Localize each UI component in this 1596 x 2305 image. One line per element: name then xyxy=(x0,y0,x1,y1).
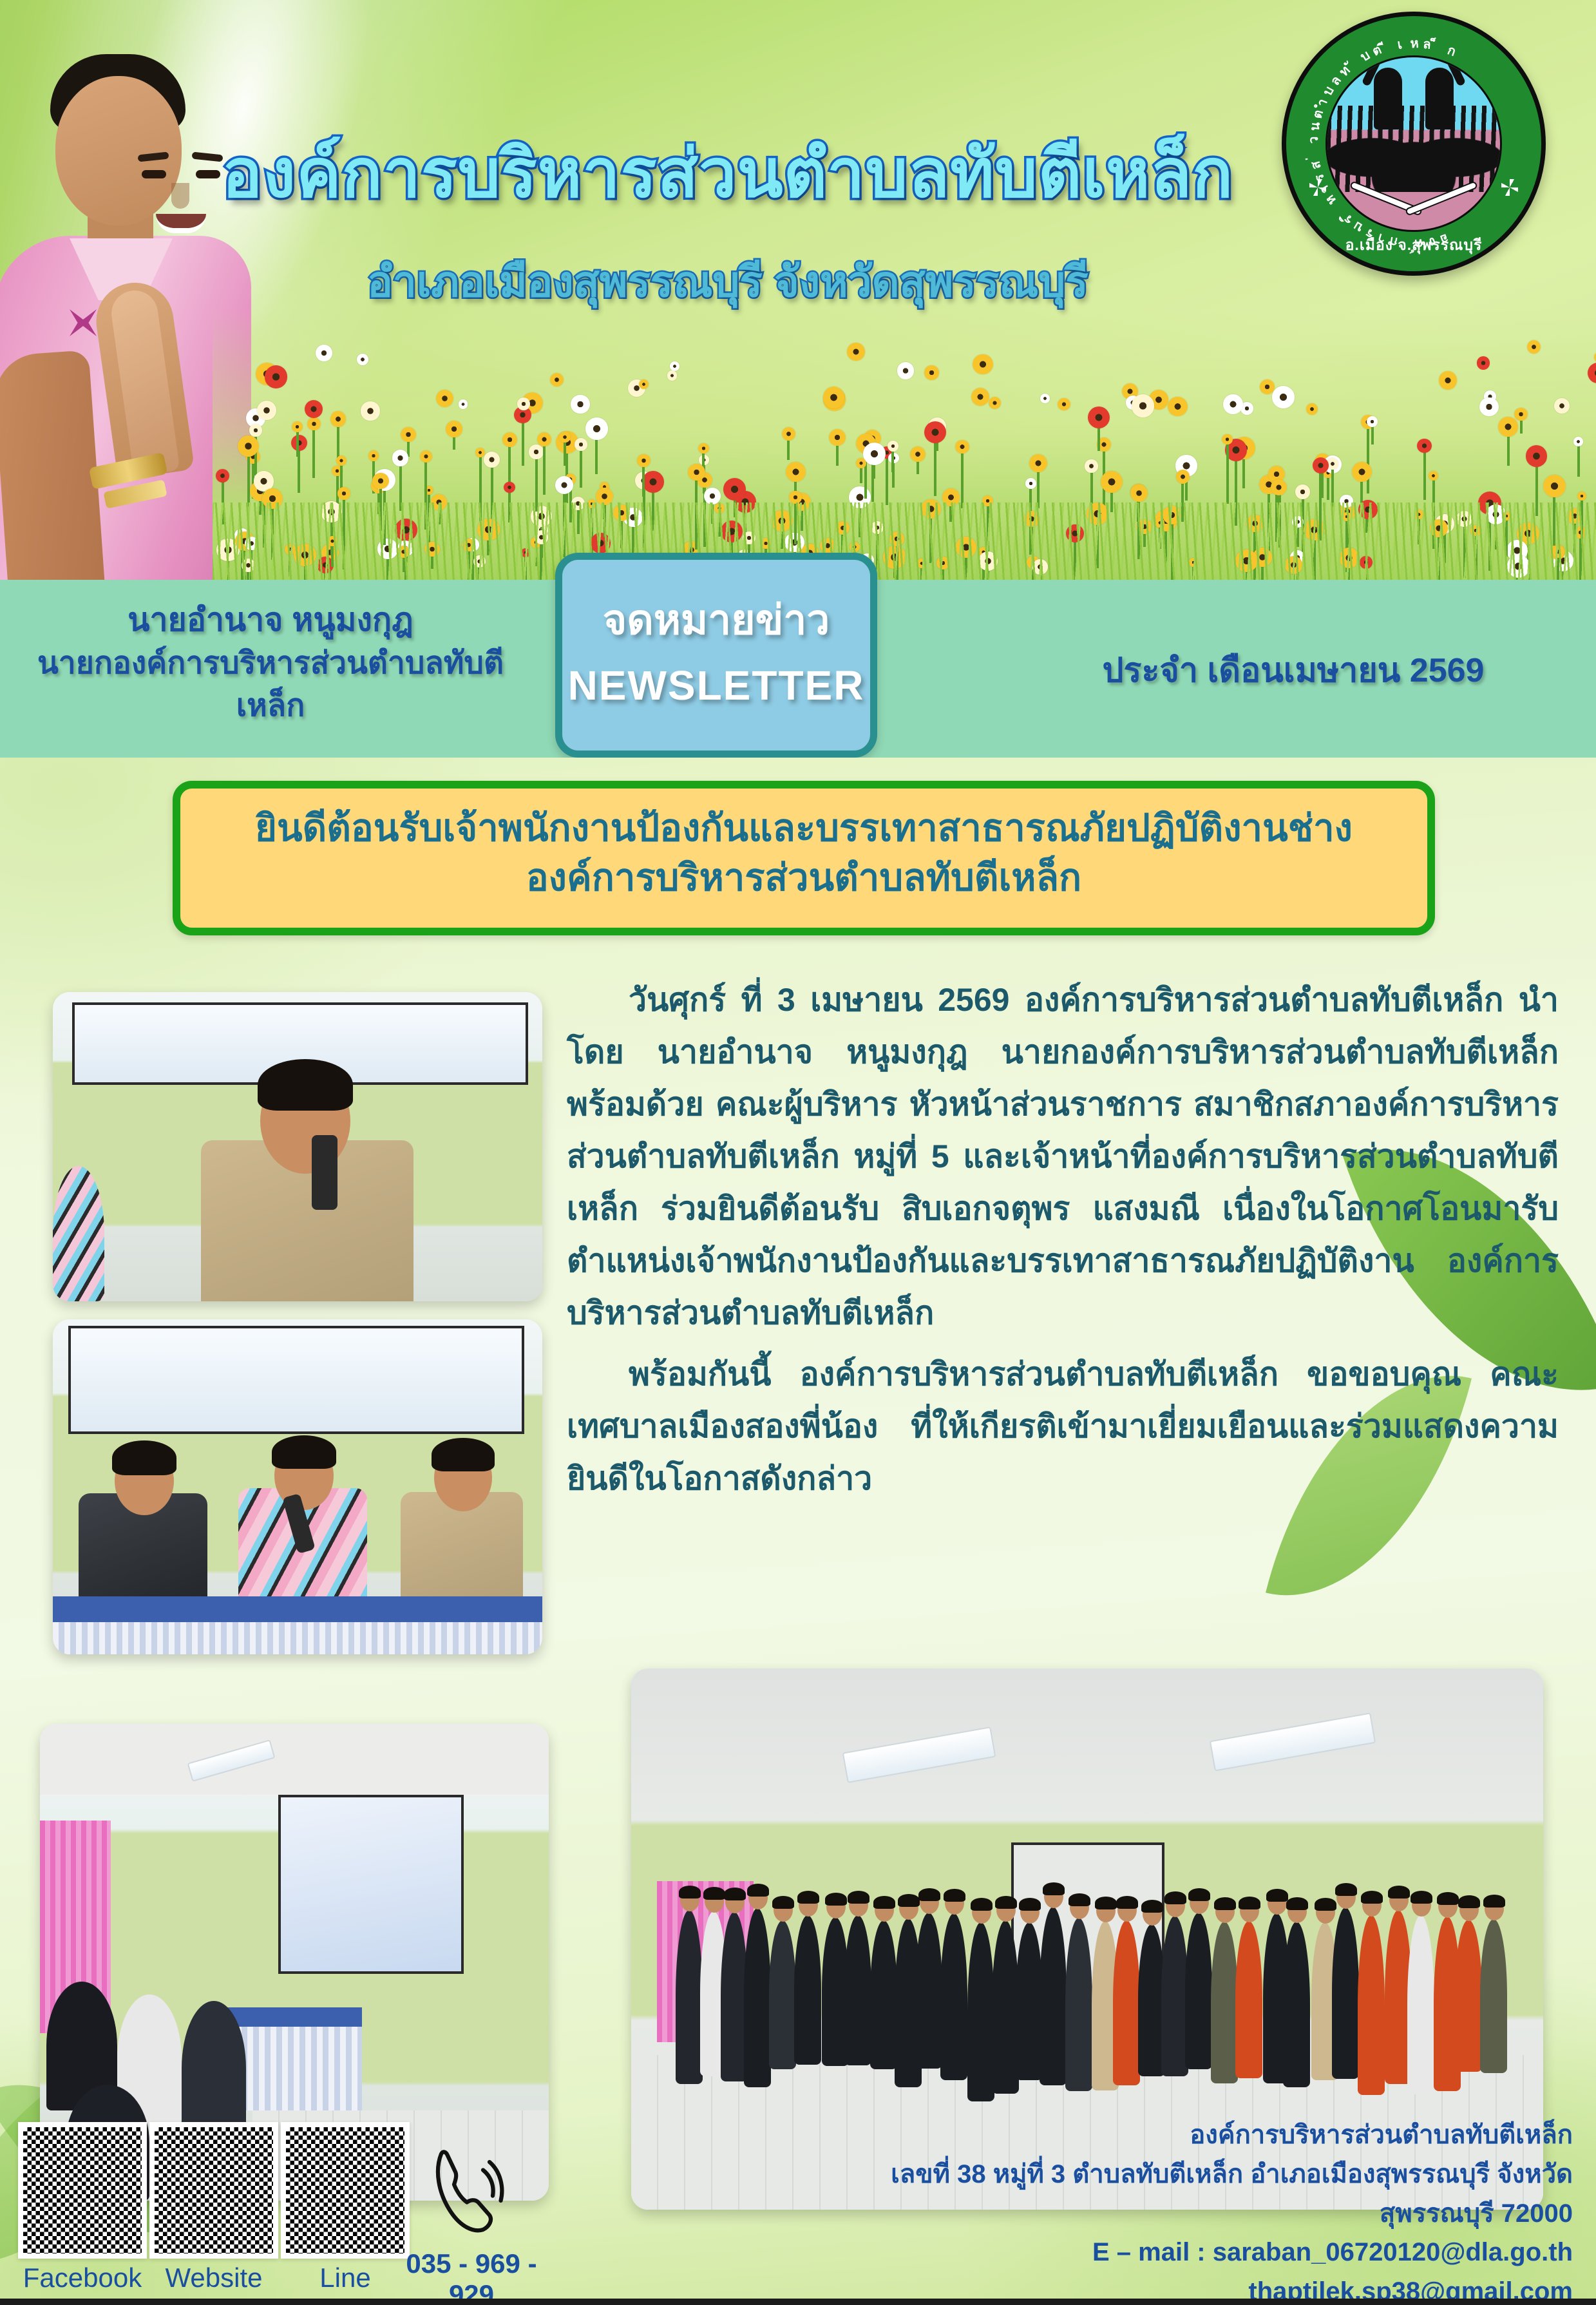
headline-line-2: องค์การบริหารส่วนตำบลทับตีเหล็ก xyxy=(180,855,1427,902)
photo3-ceiling xyxy=(40,1724,549,1795)
photo2-man-right-hair xyxy=(432,1438,495,1471)
mayor-position: นายกองค์การบริหารส่วนตำบลทับตีเหล็ก xyxy=(13,642,528,727)
newsletter-label-english: NEWSLETTER xyxy=(562,662,870,709)
photo2-man-center-hair xyxy=(272,1435,336,1469)
emblem-crowd xyxy=(1327,106,1500,192)
newsletter-page: องค์การบริหารส่วนตำบลทับตีเหล็ก อ.เมือง … xyxy=(0,0,1596,2305)
qr-block-line[interactable]: Line xyxy=(281,2122,410,2293)
footer-email-1: E – mail : saraban_06720120@dla.go.th xyxy=(813,2233,1573,2272)
photo3-projector-screen xyxy=(278,1795,464,1974)
mayor-face xyxy=(55,76,182,225)
photo2-man-left-hair xyxy=(112,1440,176,1475)
mayor-info: นายอำนาจ หนูมงกุฎ นายกองค์การบริหารส่วนต… xyxy=(13,598,528,727)
emblem-figure-right xyxy=(1425,68,1454,129)
bottom-bar xyxy=(0,2299,1596,2305)
mayor-nose xyxy=(171,183,189,209)
newsletter-badge: จดหมายข่าว NEWSLETTER xyxy=(555,553,877,758)
qr-label-line: Line xyxy=(281,2262,410,2293)
flower-meadow-decoration xyxy=(213,309,1596,580)
footer-org-name: องค์การบริหารส่วนตำบลทับตีเหล็ก xyxy=(813,2116,1573,2155)
organization-emblem: องค์การบริหารส่วนตำบลทับตีเหล็ก อ.เมือง … xyxy=(1282,12,1546,276)
footer: Facebook Website Line 035 - 969 - 929 อง… xyxy=(0,2087,1596,2305)
mayor-mouth xyxy=(156,214,206,233)
phone-number: 035 - 969 - 929 xyxy=(394,2248,549,2305)
page-subtitle: อำเภอเมืองสุพรรณบุรี จังหวัดสุพรรณบุรี xyxy=(213,260,1243,303)
emblem-star-right xyxy=(1501,179,1518,196)
qr-block-website[interactable]: Website xyxy=(149,2122,278,2293)
footer-contact-info: องค์การบริหารส่วนตำบลทับตีเหล็ก เลขที่ 3… xyxy=(813,2116,1573,2305)
headline-box: ยินดีต้อนรับเจ้าพนักงานป้องกันและบรรเทาส… xyxy=(173,781,1435,935)
footer-address: เลขที่ 38 หมู่ที่ 3 ตำบลทับตีเหล็ก อำเภอ… xyxy=(813,2155,1573,2233)
photo2-projector-screen xyxy=(68,1326,524,1434)
page-title: องค์การบริหารส่วนตำบลทับตีเหล็ก xyxy=(213,140,1243,207)
mayor-arm xyxy=(0,350,104,580)
photo2-table-top xyxy=(53,1596,542,1622)
phone-icon xyxy=(425,2143,509,2239)
photo1-microphone xyxy=(312,1135,337,1210)
emblem-bottom-text: อ.เมือง จ.สุพรรณบุรี xyxy=(1286,234,1541,257)
qr-code-icon-facebook[interactable] xyxy=(18,2122,147,2259)
article-paragraph-2: พร้อมกันนี้ องค์การบริหารส่วนตำบลทับตีเห… xyxy=(567,1348,1559,1505)
qr-code-icon-website[interactable] xyxy=(149,2122,278,2259)
qr-block-facebook[interactable]: Facebook xyxy=(18,2122,147,2293)
qr-label-website: Website xyxy=(149,2262,278,2293)
emblem-star-left xyxy=(1309,179,1326,196)
headline-line-1: ยินดีต้อนรับเจ้าพนักงานป้องกันและบรรเทาส… xyxy=(180,805,1427,852)
emblem-figure-left xyxy=(1374,68,1402,129)
article-paragraph-1: วันศุกร์ ที่ 3 เมษายน 2569 องค์การบริหาร… xyxy=(567,974,1559,1339)
mayor-name: นายอำนาจ หนูมงกุฎ xyxy=(13,598,528,642)
photo-panel-three-men xyxy=(53,1319,542,1654)
photo1-side-person xyxy=(53,1166,104,1301)
header-banner: องค์การบริหารส่วนตำบลทับตีเหล็ก อ.เมือง … xyxy=(0,0,1596,580)
newsletter-label-thai: จดหมายข่าว xyxy=(562,587,870,653)
qr-code-icon-line[interactable] xyxy=(281,2122,410,2259)
article-body: วันศุกร์ ที่ 3 เมษายน 2569 องค์การบริหาร… xyxy=(567,974,1559,1514)
photo2-table-skirt xyxy=(53,1622,542,1654)
photo-officer-speaking xyxy=(53,992,542,1301)
emblem-inner-scene xyxy=(1325,55,1502,232)
qr-label-facebook: Facebook xyxy=(18,2262,147,2293)
mayor-eyebrow-left xyxy=(138,152,169,162)
mayor-info-band: นายอำนาจ หนูมงกุฎ นายกองค์การบริหารส่วนต… xyxy=(0,580,1596,758)
mayor-eye-left xyxy=(142,170,166,178)
issue-date: ประจำ เดือนเมษายน 2569 xyxy=(1029,643,1557,696)
photo1-officer-hair xyxy=(258,1059,353,1111)
